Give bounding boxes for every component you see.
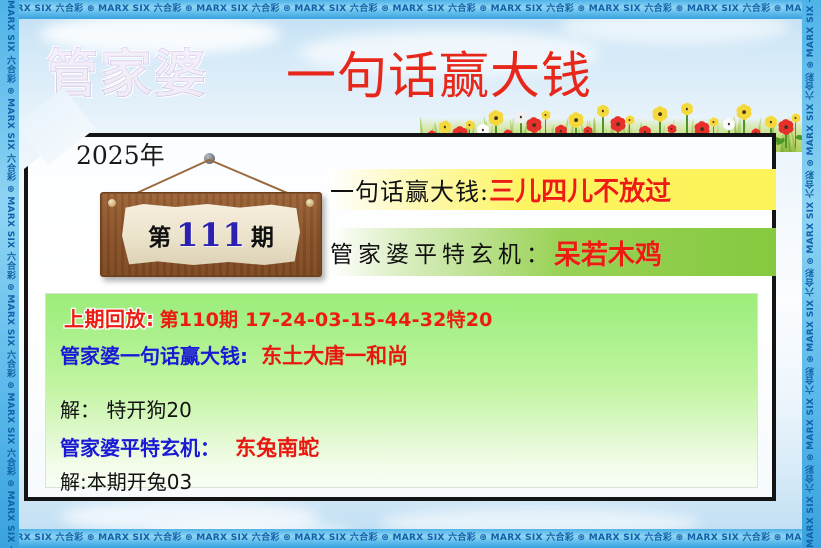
border-marquee-bottom: MARX SIX 六合彩 ⊛ MARX SIX 六合彩 ⊛ MARX SIX 六… [0, 529, 821, 548]
content-box: 上期回放: 第110期 17-24-03-15-44-32特20 管家婆一句话赢… [45, 293, 758, 488]
issue-prefix: 第 [148, 218, 171, 252]
border-marquee-top: MARX SIX 六合彩 ⊛ MARX SIX 六合彩 ⊛ MARX SIX 六… [0, 0, 821, 19]
border-marquee-right: MARX SIX 六合彩 ⊛ MARX SIX 六合彩 ⊛ MARX SIX 六… [802, 0, 821, 548]
previous-slogan-answer: 解： 特开狗20 [60, 394, 192, 423]
issue-sign-board: 第 111 期 [100, 192, 322, 277]
previous-pingte-answer: 解:本期开兔03 [60, 466, 192, 495]
year-label: 2025年 [76, 136, 165, 172]
flower-stem [785, 133, 787, 148]
banner-value: 三儿四儿不放过 [489, 171, 671, 208]
issue-number: 111 [171, 216, 251, 254]
flower-icon [780, 121, 792, 148]
previous-pingte-value: 东兔南蛇 [225, 436, 319, 460]
previous-slogan-row: 管家婆一句话赢大钱: 东土大唐一和尚 [60, 340, 408, 370]
recap-label: 上期回放: [64, 307, 155, 331]
issue-suffix: 期 [251, 218, 274, 252]
answer-text: 解： 特开狗20 [60, 398, 192, 422]
previous-slogan-label: 管家婆一句话赢大钱: [60, 344, 248, 368]
recap-row: 上期回放: 第110期 17-24-03-15-44-32特20 [64, 303, 493, 332]
border-marquee-left: MARX SIX 六合彩 ⊛ MARX SIX 六合彩 ⊛ MARX SIX 六… [0, 0, 19, 548]
previous-pingte-label: 管家婆平特玄机： [60, 436, 220, 460]
site-logo-title: 管家婆 [46, 32, 208, 107]
banner-slogan-prediction: 一句话赢大钱: 三儿四儿不放过 [330, 169, 776, 210]
banner-value: 呆若木鸡 [554, 233, 662, 272]
issue-text: 第 111 期 [100, 192, 322, 277]
previous-pingte-row: 管家婆平特玄机： 东兔南蛇 [60, 432, 319, 462]
banner-label: 一句话赢大钱: [330, 172, 489, 207]
recap-value: 第110期 17-24-03-15-44-32特20 [160, 309, 493, 331]
answer-text: 解:本期开兔03 [60, 470, 192, 494]
previous-slogan-value: 东土大唐一和尚 [253, 344, 408, 368]
flower-icon [792, 114, 799, 148]
banner-label: 管家婆平特玄机： [330, 235, 554, 269]
banner-pingte-prediction: 管家婆平特玄机： 呆若木鸡 [330, 228, 776, 276]
